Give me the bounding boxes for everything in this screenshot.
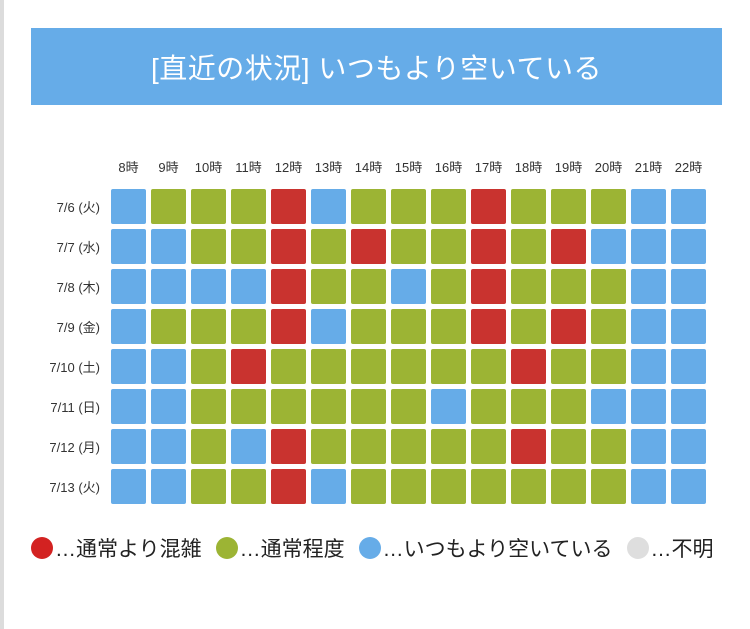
congestion-cell[interactable]	[311, 189, 346, 224]
congestion-cell[interactable]	[511, 309, 546, 344]
congestion-cell[interactable]	[191, 469, 226, 504]
congestion-cell[interactable]	[391, 269, 426, 304]
congestion-cell[interactable]	[191, 349, 226, 384]
congestion-cell[interactable]	[591, 309, 626, 344]
congestion-cell[interactable]	[111, 429, 146, 464]
congestion-cell[interactable]	[391, 189, 426, 224]
congestion-cell[interactable]	[591, 269, 626, 304]
congestion-cell[interactable]	[471, 469, 506, 504]
congestion-cell[interactable]	[471, 269, 506, 304]
date-label: 7/10 (土)	[0, 357, 111, 376]
hour-header: 13時	[311, 150, 346, 186]
congestion-cell[interactable]	[551, 429, 586, 464]
date-label: 7/8 (木)	[0, 277, 111, 296]
congestion-cell[interactable]	[231, 429, 266, 464]
hour-header: 15時	[391, 150, 426, 186]
congestion-cell[interactable]	[271, 389, 306, 424]
congestion-cell[interactable]	[551, 349, 586, 384]
congestion-cell[interactable]	[351, 429, 386, 464]
congestion-cell[interactable]	[671, 269, 706, 304]
status-banner: [直近の状況] いつもより空いている	[31, 28, 722, 105]
congestion-cell[interactable]	[631, 429, 666, 464]
congestion-cell[interactable]	[351, 309, 386, 344]
congestion-cell[interactable]	[311, 269, 346, 304]
congestion-cell[interactable]	[391, 229, 426, 264]
congestion-cell[interactable]	[191, 309, 226, 344]
legend-label: …通常より混雑	[55, 533, 202, 563]
date-label: 7/7 (水)	[0, 237, 111, 256]
congestion-cell[interactable]	[631, 229, 666, 264]
legend-label: …不明	[651, 533, 714, 563]
congestion-cell[interactable]	[311, 469, 346, 504]
legend-swatch-icon	[627, 537, 649, 559]
congestion-cell[interactable]	[231, 189, 266, 224]
congestion-cell[interactable]	[431, 429, 466, 464]
congestion-cell[interactable]	[431, 269, 466, 304]
congestion-cell[interactable]	[591, 469, 626, 504]
date-label: 7/11 (日)	[0, 397, 111, 416]
hour-header: 14時	[351, 150, 386, 186]
congestion-cell[interactable]	[431, 189, 466, 224]
congestion-cell[interactable]	[151, 429, 186, 464]
congestion-cell[interactable]	[111, 469, 146, 504]
calendar-row: 7/13 (火)	[0, 466, 750, 506]
congestion-cell[interactable]	[631, 189, 666, 224]
congestion-cell[interactable]	[231, 469, 266, 504]
congestion-cell[interactable]	[311, 229, 346, 264]
congestion-cell[interactable]	[351, 389, 386, 424]
hour-header: 12時	[271, 150, 306, 186]
congestion-cell[interactable]	[311, 429, 346, 464]
congestion-cell[interactable]	[471, 429, 506, 464]
congestion-cell[interactable]	[511, 349, 546, 384]
congestion-cell[interactable]	[511, 389, 546, 424]
congestion-cell[interactable]	[391, 349, 426, 384]
date-label: 7/9 (金)	[0, 317, 111, 336]
legend-label: …通常程度	[240, 533, 345, 563]
legend-swatch-icon	[216, 537, 238, 559]
congestion-cell[interactable]	[271, 229, 306, 264]
congestion-cell[interactable]	[471, 349, 506, 384]
congestion-cell[interactable]	[271, 189, 306, 224]
legend-item: …いつもより空いている	[359, 527, 613, 569]
congestion-cell[interactable]	[551, 309, 586, 344]
congestion-cell[interactable]	[671, 349, 706, 384]
hour-header: 21時	[631, 150, 666, 186]
congestion-cell[interactable]	[271, 309, 306, 344]
hour-header: 16時	[431, 150, 466, 186]
congestion-cell[interactable]	[351, 469, 386, 504]
congestion-cell[interactable]	[151, 189, 186, 224]
congestion-cell[interactable]	[671, 469, 706, 504]
congestion-cell[interactable]	[111, 189, 146, 224]
congestion-cell[interactable]	[391, 389, 426, 424]
congestion-cell[interactable]	[231, 349, 266, 384]
congestion-cell[interactable]	[351, 189, 386, 224]
legend-swatch-icon	[359, 537, 381, 559]
congestion-cell[interactable]	[471, 309, 506, 344]
hour-header: 9時	[151, 150, 186, 186]
congestion-cell[interactable]	[351, 229, 386, 264]
congestion-cell[interactable]	[671, 429, 706, 464]
hour-header: 8時	[111, 150, 146, 186]
legend-item: …不明	[627, 527, 714, 569]
hour-header: 22時	[671, 150, 706, 186]
congestion-cell[interactable]	[191, 269, 226, 304]
legend: …通常より混雑…通常程度…いつもより空いている…不明	[31, 527, 731, 569]
congestion-cell[interactable]	[111, 309, 146, 344]
congestion-cell[interactable]	[631, 269, 666, 304]
congestion-cell[interactable]	[551, 229, 586, 264]
calendar-row: 7/10 (土)	[0, 346, 750, 386]
congestion-cell[interactable]	[151, 229, 186, 264]
congestion-cell[interactable]	[151, 309, 186, 344]
hour-header: 18時	[511, 150, 546, 186]
congestion-cell[interactable]	[591, 349, 626, 384]
congestion-cell[interactable]	[271, 349, 306, 384]
congestion-cell[interactable]	[591, 229, 626, 264]
congestion-cell[interactable]	[511, 189, 546, 224]
congestion-cell[interactable]	[151, 469, 186, 504]
congestion-cell[interactable]	[591, 389, 626, 424]
date-label: 7/12 (月)	[0, 437, 111, 456]
congestion-cell[interactable]	[591, 429, 626, 464]
congestion-cell[interactable]	[511, 229, 546, 264]
congestion-cell[interactable]	[551, 269, 586, 304]
congestion-cell[interactable]	[591, 189, 626, 224]
calendar-row: 7/12 (月)	[0, 426, 750, 466]
congestion-cell[interactable]	[191, 389, 226, 424]
congestion-cell[interactable]	[431, 229, 466, 264]
congestion-cell[interactable]	[231, 309, 266, 344]
congestion-cell[interactable]	[271, 269, 306, 304]
congestion-cell[interactable]	[311, 389, 346, 424]
congestion-cell[interactable]	[231, 229, 266, 264]
congestion-cell[interactable]	[511, 469, 546, 504]
hour-header: 19時	[551, 150, 586, 186]
congestion-cell[interactable]	[671, 389, 706, 424]
congestion-cell[interactable]	[311, 309, 346, 344]
congestion-cell[interactable]	[431, 389, 466, 424]
congestion-cell[interactable]	[391, 309, 426, 344]
calendar-row: 7/7 (水)	[0, 226, 750, 266]
hour-header: 20時	[591, 150, 626, 186]
congestion-cell[interactable]	[431, 469, 466, 504]
legend-swatch-icon	[31, 537, 53, 559]
congestion-cell[interactable]	[191, 229, 226, 264]
congestion-cell[interactable]	[671, 229, 706, 264]
calendar-row: 7/9 (金)	[0, 306, 750, 346]
congestion-cell[interactable]	[631, 349, 666, 384]
congestion-cell[interactable]	[631, 469, 666, 504]
congestion-cell[interactable]	[231, 269, 266, 304]
congestion-cell[interactable]	[631, 389, 666, 424]
congestion-cell[interactable]	[671, 189, 706, 224]
date-label: 7/13 (火)	[0, 477, 111, 496]
congestion-cell[interactable]	[151, 349, 186, 384]
congestion-cell[interactable]	[631, 309, 666, 344]
date-label: 7/6 (火)	[0, 197, 111, 216]
congestion-cell[interactable]	[551, 469, 586, 504]
hour-header: 11時	[231, 150, 266, 186]
congestion-cell[interactable]	[111, 229, 146, 264]
congestion-cell[interactable]	[271, 469, 306, 504]
congestion-cell[interactable]	[191, 189, 226, 224]
congestion-calendar-page: [直近の状況] いつもより空いている 8時9時10時11時12時13時14時15…	[0, 0, 750, 629]
congestion-calendar: 8時9時10時11時12時13時14時15時16時17時18時19時20時21時…	[0, 150, 750, 506]
congestion-cell[interactable]	[151, 269, 186, 304]
congestion-cell[interactable]	[391, 429, 426, 464]
legend-item: …通常程度	[216, 527, 345, 569]
congestion-cell[interactable]	[471, 389, 506, 424]
congestion-cell[interactable]	[431, 349, 466, 384]
congestion-cell[interactable]	[431, 309, 466, 344]
congestion-cell[interactable]	[151, 389, 186, 424]
banner-title: [直近の状況] いつもより空いている	[151, 47, 602, 87]
hour-header: 17時	[471, 150, 506, 186]
congestion-cell[interactable]	[111, 389, 146, 424]
congestion-cell[interactable]	[231, 389, 266, 424]
hour-header-row: 8時9時10時11時12時13時14時15時16時17時18時19時20時21時…	[0, 150, 750, 186]
congestion-cell[interactable]	[511, 429, 546, 464]
congestion-cell[interactable]	[391, 469, 426, 504]
legend-item: …通常より混雑	[31, 527, 202, 569]
congestion-cell[interactable]	[351, 269, 386, 304]
congestion-cell[interactable]	[671, 309, 706, 344]
congestion-cell[interactable]	[271, 429, 306, 464]
congestion-cell[interactable]	[351, 349, 386, 384]
congestion-cell[interactable]	[111, 349, 146, 384]
legend-label: …いつもより空いている	[383, 533, 613, 563]
congestion-cell[interactable]	[471, 189, 506, 224]
congestion-cell[interactable]	[511, 269, 546, 304]
congestion-cell[interactable]	[551, 189, 586, 224]
congestion-cell[interactable]	[111, 269, 146, 304]
congestion-cell[interactable]	[471, 229, 506, 264]
calendar-row: 7/11 (日)	[0, 386, 750, 426]
congestion-cell[interactable]	[191, 429, 226, 464]
calendar-row: 7/8 (木)	[0, 266, 750, 306]
calendar-row: 7/6 (火)	[0, 186, 750, 226]
congestion-cell[interactable]	[551, 389, 586, 424]
congestion-cell[interactable]	[311, 349, 346, 384]
hour-header: 10時	[191, 150, 226, 186]
